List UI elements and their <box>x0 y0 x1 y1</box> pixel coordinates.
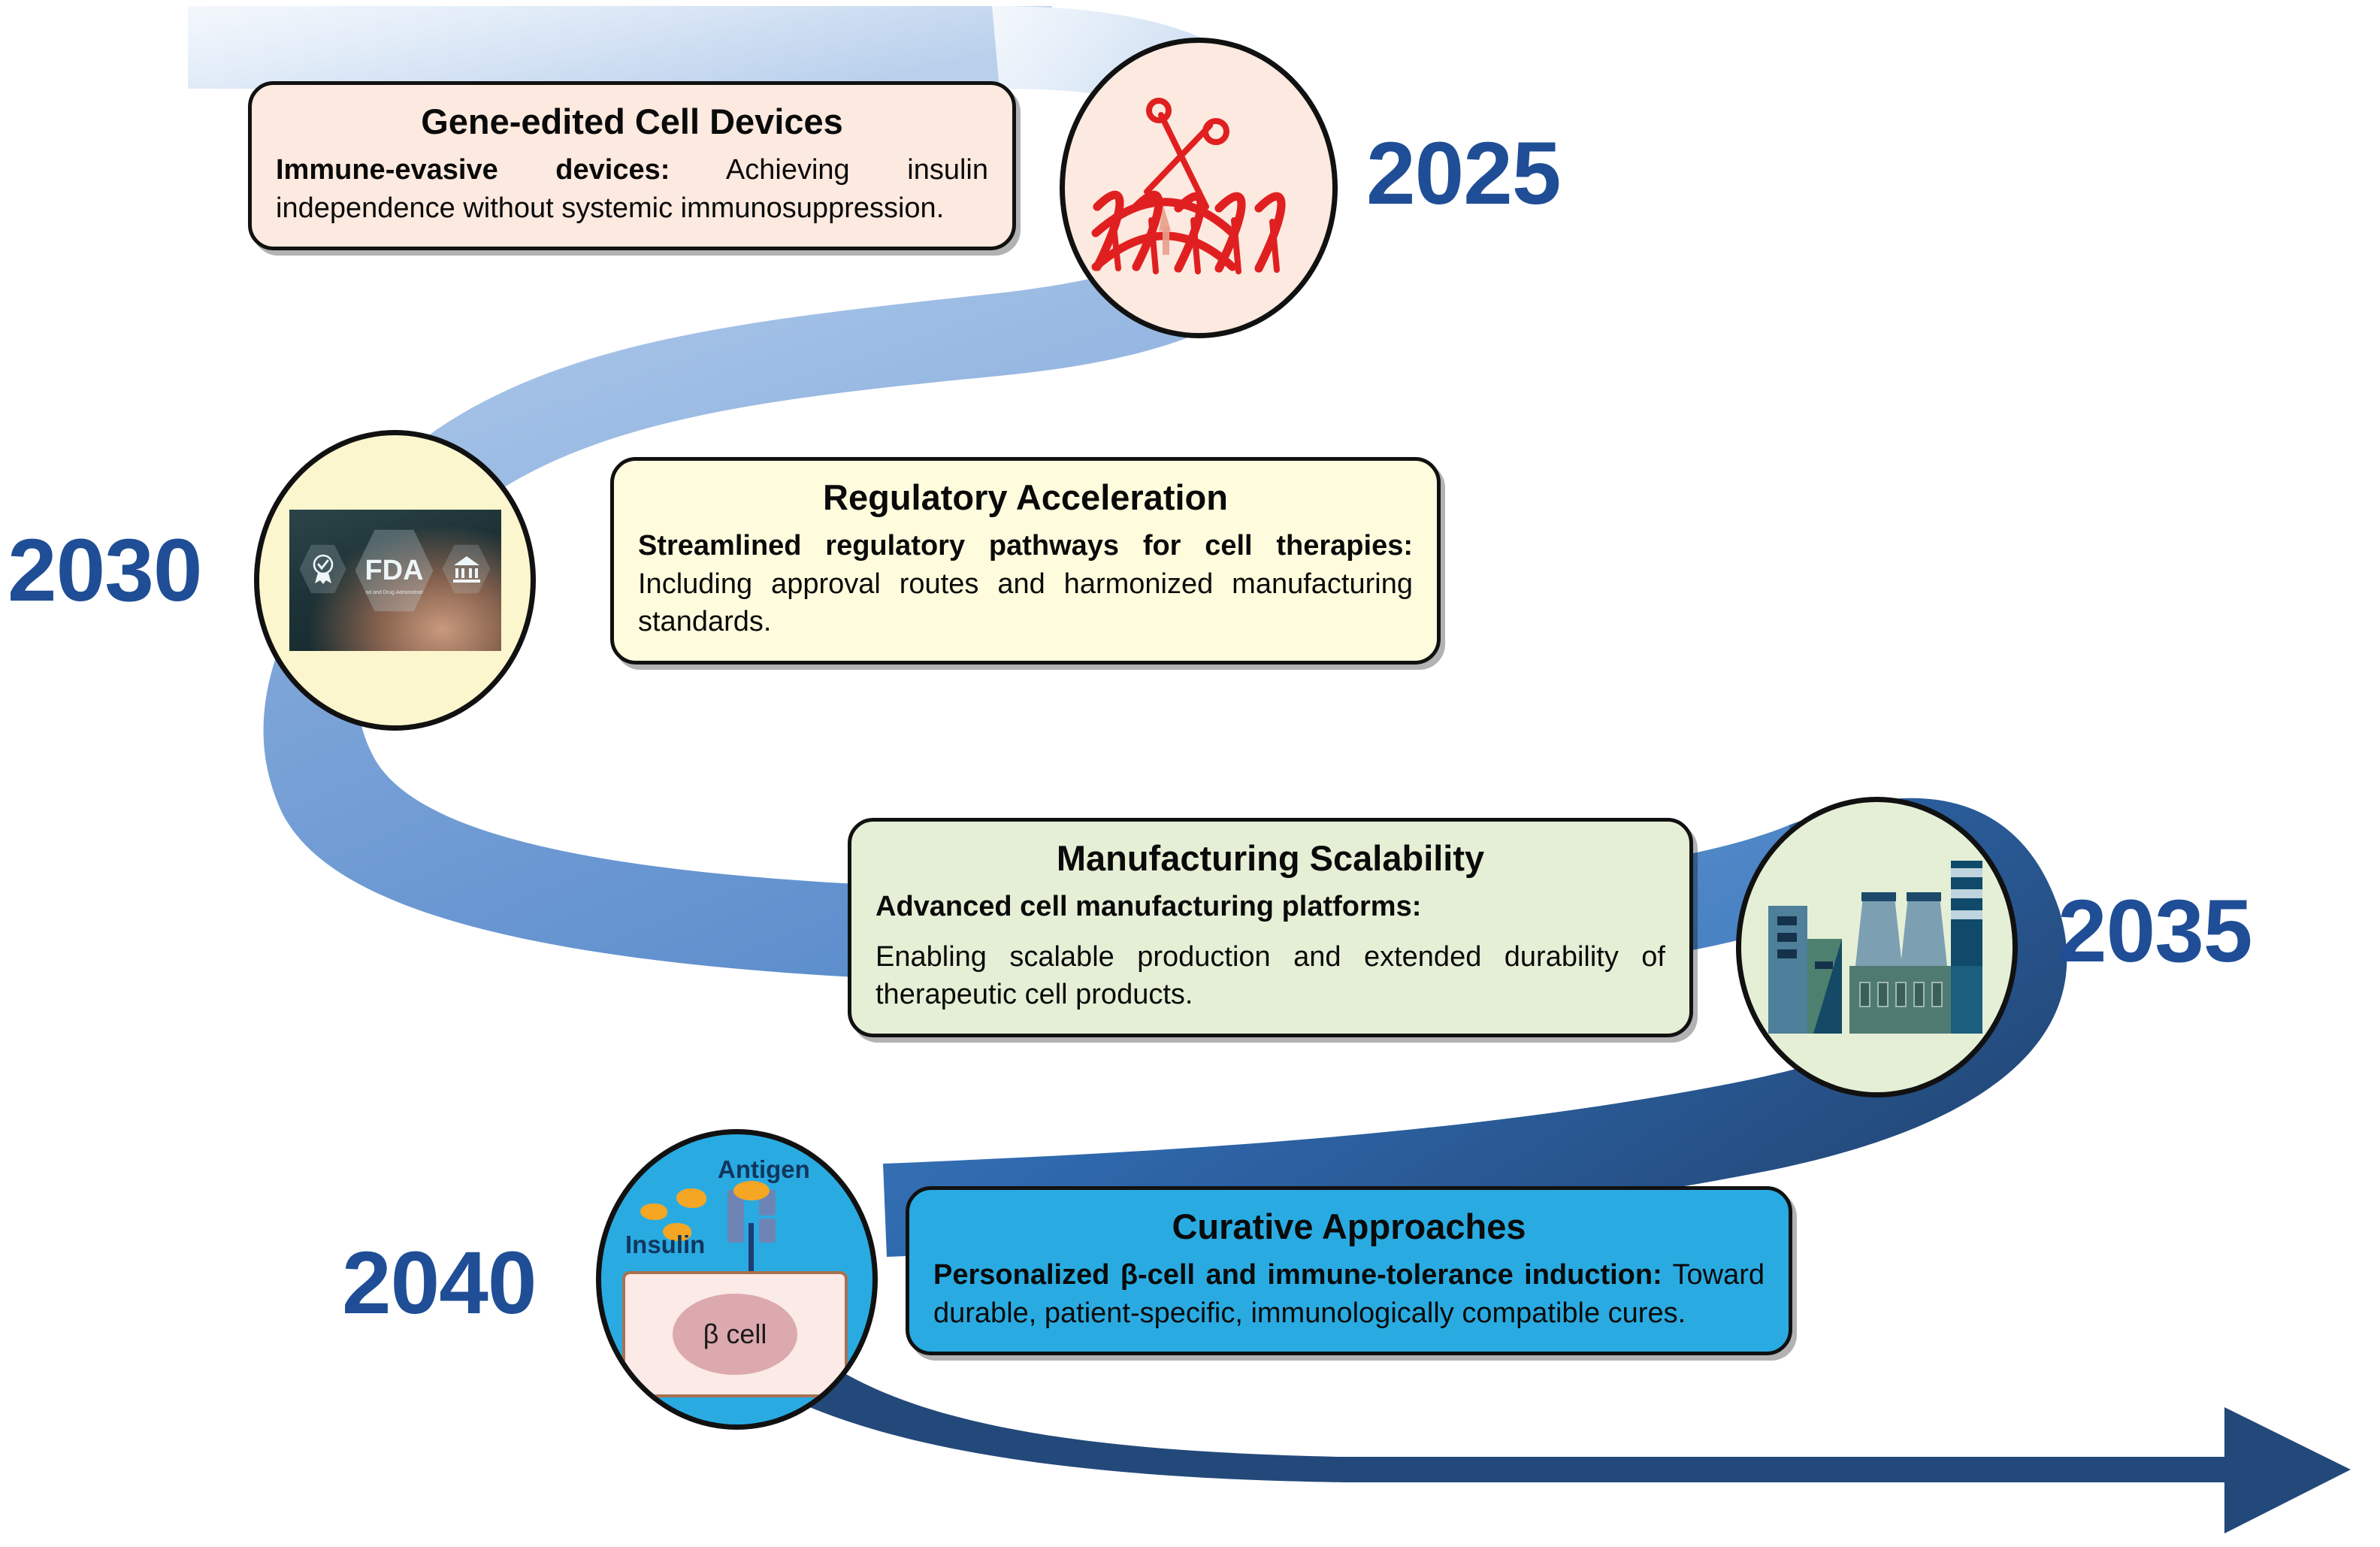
card-body-2040: Personalized β-cell and immune-tolerance… <box>933 1256 1765 1332</box>
card-title-2025: Gene-edited Cell Devices <box>276 101 988 142</box>
insulin-granule-icon <box>640 1203 667 1220</box>
receptor-block-right-bottom <box>759 1219 776 1243</box>
milestone-card-2030: Regulatory Acceleration Streamlined regu… <box>610 457 1441 665</box>
card-lead-2025: Immune-evasive devices: <box>276 154 670 186</box>
year-label-2030: 2030 <box>8 526 202 615</box>
factory-icon <box>1768 861 1986 1034</box>
government-building-icon <box>443 543 491 595</box>
card-lead-2040: Personalized β-cell and immune-tolerance… <box>933 1259 1662 1291</box>
milestone-icon-2035 <box>1736 797 2018 1097</box>
insulin-granule-icon <box>676 1188 706 1208</box>
card-body-2025: Immune-evasive devices: Achieving insuli… <box>276 151 988 227</box>
insulin-label: Insulin <box>625 1231 705 1259</box>
milestone-icon-2040: Antigen Insulin β cell <box>596 1129 878 1430</box>
card-body-2030: Streamlined regulatory pathways for cell… <box>638 527 1413 641</box>
card-lead-2035: Advanced cell manufacturing platforms: <box>875 891 1421 922</box>
card-title-2040: Curative Approaches <box>933 1206 1765 1247</box>
milestone-card-2035: Manufacturing Scalability Advanced cell … <box>848 818 1693 1037</box>
antigen-dot-icon <box>733 1181 770 1200</box>
card-lead-2035-row: Advanced cell manufacturing platforms: <box>875 888 1665 926</box>
beta-cell-nucleus-label: β cell <box>673 1294 797 1375</box>
year-label-2025: 2025 <box>1366 129 1561 218</box>
card-rest-2030: Including approval routes and harmonized… <box>638 568 1413 638</box>
fda-hexagon: FDA Food and Drug Administration <box>355 526 434 615</box>
milestone-icon-2030: FDA Food and Drug Administration <box>254 430 536 731</box>
fda-subtitle: Food and Drug Administration <box>359 590 429 595</box>
beta-cell-membrane-box: β cell <box>622 1271 848 1397</box>
card-rest-2035: Enabling scalable production and extende… <box>875 938 1665 1014</box>
year-label-2040: 2040 <box>342 1239 537 1328</box>
card-lead-2030: Streamlined regulatory pathways for cell… <box>638 530 1413 562</box>
milestone-card-2040: Curative Approaches Personalized β-cell … <box>906 1186 1792 1355</box>
dna-scissors-icon <box>1090 94 1308 282</box>
certified-badge-icon <box>300 543 346 595</box>
fda-approval-icon: FDA Food and Drug Administration <box>289 510 501 651</box>
year-label-2035: 2035 <box>2058 887 2252 976</box>
milestone-icon-2025 <box>1060 38 1338 338</box>
milestone-card-2025: Gene-edited Cell Devices Immune-evasive … <box>248 81 1016 250</box>
beta-cell-icon: Antigen Insulin β cell <box>601 1134 872 1424</box>
roadmap-timeline-diagram: 2025 Gene-edited Cell Devices Immune-eva… <box>0 0 2380 1547</box>
card-title-2035: Manufacturing Scalability <box>875 838 1665 879</box>
timeline-arrow <box>714 1324 2351 1533</box>
antigen-label: Antigen <box>718 1155 810 1184</box>
card-title-2030: Regulatory Acceleration <box>638 477 1413 518</box>
fda-label: FDA <box>364 556 423 585</box>
